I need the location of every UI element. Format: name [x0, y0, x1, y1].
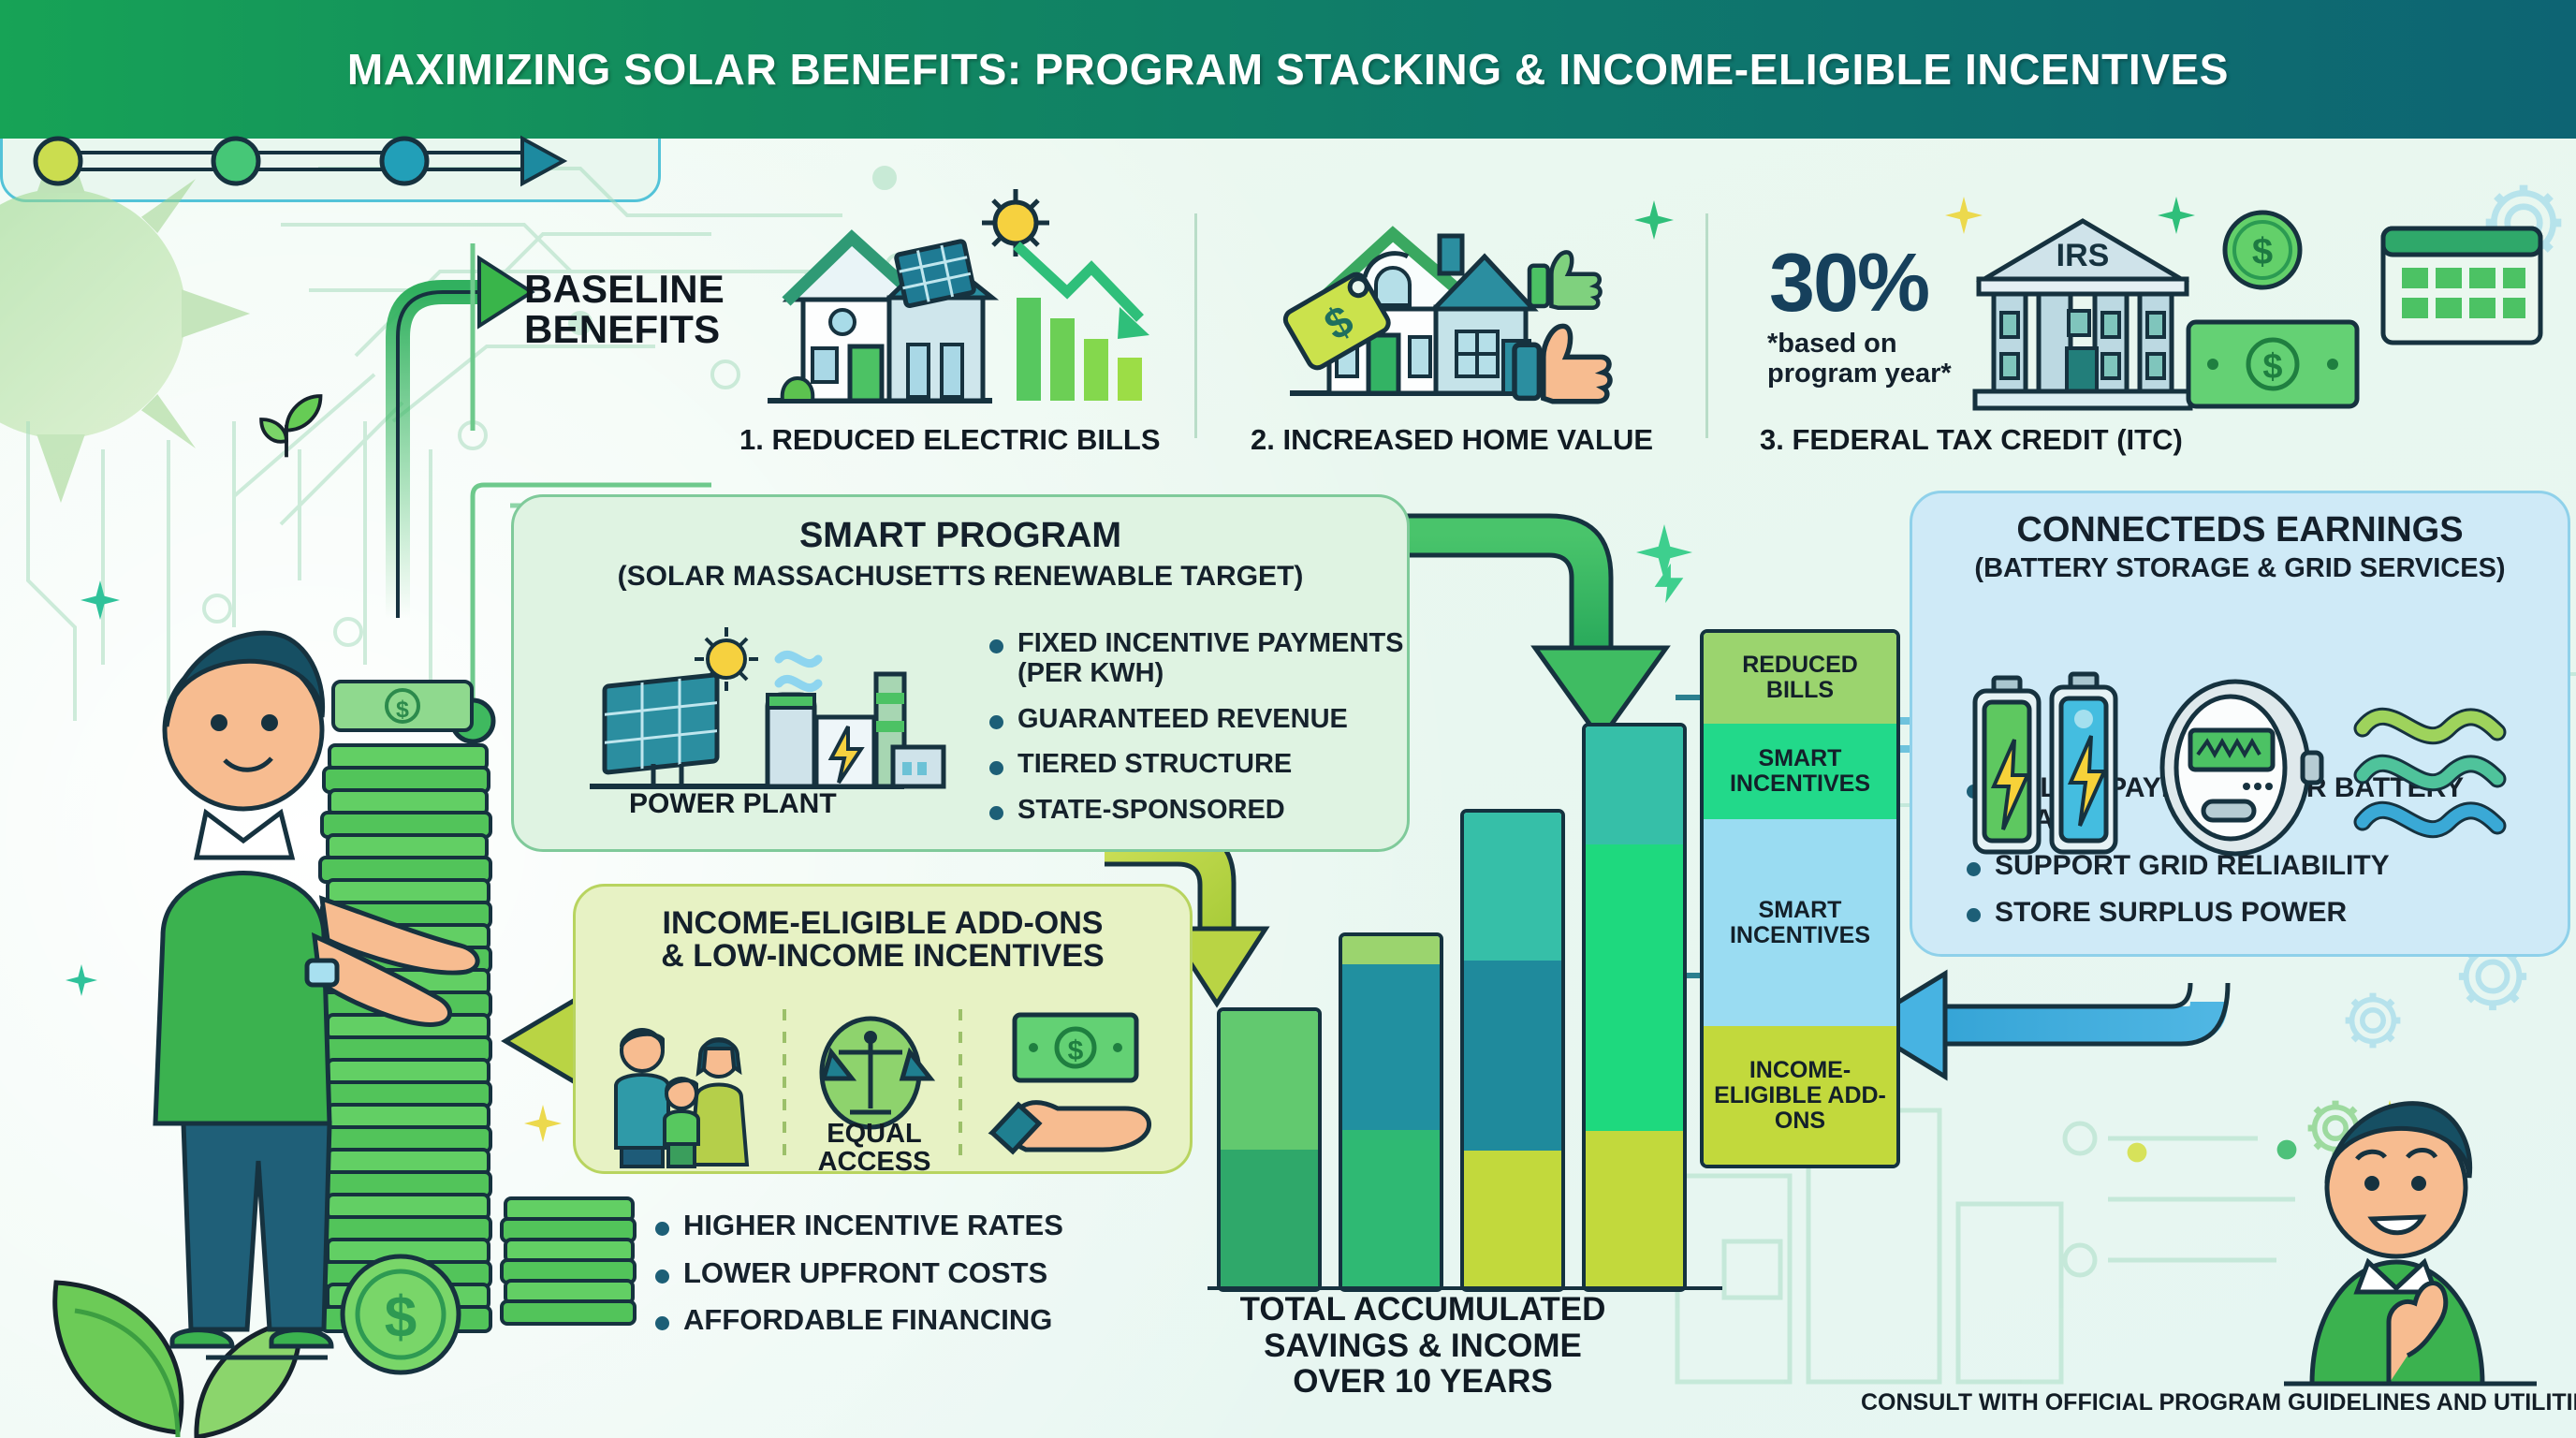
svg-text:$: $	[2252, 231, 2273, 272]
bar-4-segment-lime	[1586, 1131, 1683, 1288]
list-item: AFFORDABLE FINANCING	[646, 1304, 1170, 1337]
bar-1	[1217, 1007, 1322, 1292]
baseline-label-line1: BASELINE	[524, 270, 749, 310]
legend-item-reduced-bills: REDUCED BILLS	[1704, 633, 1896, 724]
equal-access-line1: EQUAL	[809, 1120, 940, 1148]
bar-4-segment-green	[1586, 844, 1683, 1131]
panel-divider	[783, 1009, 786, 1163]
bar-2-segment-green	[1342, 1130, 1440, 1288]
tax-credit-note-line2: program year*	[1767, 359, 1952, 389]
infographic-canvas: MAXIMIZING SOLAR BENEFITS: PROGRAM STACK…	[0, 0, 2576, 1438]
irs-building-icon: IRS	[1966, 208, 2200, 423]
bar-2	[1339, 932, 1443, 1292]
baseline-label-line2: BENEFITS	[524, 310, 749, 350]
svg-text:$: $	[385, 1285, 417, 1350]
battery-and-meter-icons	[1973, 670, 2507, 867]
connecteds-title: CONNECTEDS EARNINGS	[1912, 493, 2568, 550]
connecteds-to-stack-arrow	[1861, 974, 2228, 1077]
baseline-benefits-label: BASELINE BENEFITS	[524, 270, 749, 350]
chart-caption: TOTAL ACCUMULATED SAVINGS & INCOME OVER …	[1217, 1292, 1629, 1401]
svg-text:$: $	[1068, 1035, 1084, 1066]
list-item: LOWER UPFRONT COSTS	[646, 1257, 1170, 1290]
income-title-line2: & LOW-INCOME INCENTIVES	[576, 940, 1190, 973]
legend-item-smart-incentives-green: SMART INCENTIVES	[1704, 724, 1896, 819]
bar-4-segment-mint	[1586, 726, 1683, 844]
list-item: HIGHER INCENTIVE RATES	[646, 1210, 1170, 1242]
reduced-bills-icon	[758, 187, 1161, 431]
column-divider	[1194, 213, 1197, 438]
legend-item-income-eligible: INCOME-ELIGIBLE ADD-ONS	[1704, 1026, 1896, 1165]
panel-divider	[959, 1009, 962, 1163]
person-with-money-stack-illustration: $ $	[94, 543, 655, 1386]
power-plant-caption: POWER PLANT	[629, 788, 837, 820]
happy-person-thumbs-up-illustration	[2275, 1105, 2555, 1395]
bar-2-segment-cap	[1342, 936, 1440, 964]
coin-icon: $	[2220, 208, 2305, 292]
connecteds-subtitle: (BATTERY STORAGE & GRID SERVICES)	[1912, 553, 2568, 584]
chart-baseline-axis	[1207, 1286, 1722, 1290]
hand-with-money-icon: $	[985, 1009, 1172, 1159]
chart-legend-stack: REDUCED BILLS SMART INCENTIVES SMART INC…	[1700, 629, 1900, 1168]
bar-2-segment-teal	[1342, 964, 1440, 1130]
svg-text:$: $	[2262, 347, 2282, 387]
bar-1-segment-bottom	[1221, 1150, 1318, 1288]
list-item: STORE SURPLUS POWER	[1957, 897, 2538, 929]
irs-label: IRS	[2056, 238, 2110, 273]
increased-home-value-icon: $	[1252, 198, 1646, 431]
bar-3-segment-mint	[1464, 813, 1561, 960]
income-eligible-title: INCOME-ELIGIBLE ADD-ONS & LOW-INCOME INC…	[576, 887, 1190, 974]
bar-3-segment-lime	[1464, 1151, 1561, 1288]
bar-1-segment-top	[1221, 1011, 1318, 1150]
list-item: FIXED INCENTIVE PAYMENTS (PER KWH)	[980, 628, 1411, 689]
payback-timeline-arrow	[28, 133, 590, 189]
equal-access-line2: ACCESS	[809, 1148, 940, 1176]
top-item-caption-3: 3. FEDERAL TAX CREDIT (ITC)	[1760, 423, 2183, 457]
stacked-bar-chart	[1217, 693, 1704, 1292]
dollar-bill-icon: $	[2185, 315, 2363, 412]
footer-disclaimer: CONSULT WITH OFFICIAL PROGRAM GUIDELINES…	[1861, 1389, 2576, 1416]
svg-text:$: $	[396, 697, 409, 723]
income-eligible-bullets: HIGHER INCENTIVE RATES LOWER UPFRONT COS…	[646, 1210, 1170, 1352]
tax-credit-note: *based on program year*	[1767, 330, 1952, 389]
bar-4	[1582, 723, 1687, 1292]
equal-access-caption: EQUAL ACCESS	[809, 1120, 940, 1177]
top-item-caption-2: 2. INCREASED HOME VALUE	[1251, 423, 1653, 457]
tax-credit-note-line1: *based on	[1767, 330, 1952, 359]
bar-3-segment-teal	[1464, 961, 1561, 1151]
top-item-caption-1: 1. REDUCED ELECTRIC BILLS	[739, 423, 1161, 457]
calendar-icon	[2378, 210, 2546, 350]
bar-3	[1460, 809, 1565, 1292]
tax-credit-percent: 30%	[1769, 245, 1928, 319]
income-title-line1: INCOME-ELIGIBLE ADD-ONS	[576, 907, 1190, 940]
legend-item-smart-incentives-blue: SMART INCENTIVES	[1704, 819, 1896, 1027]
column-divider	[1705, 213, 1708, 438]
